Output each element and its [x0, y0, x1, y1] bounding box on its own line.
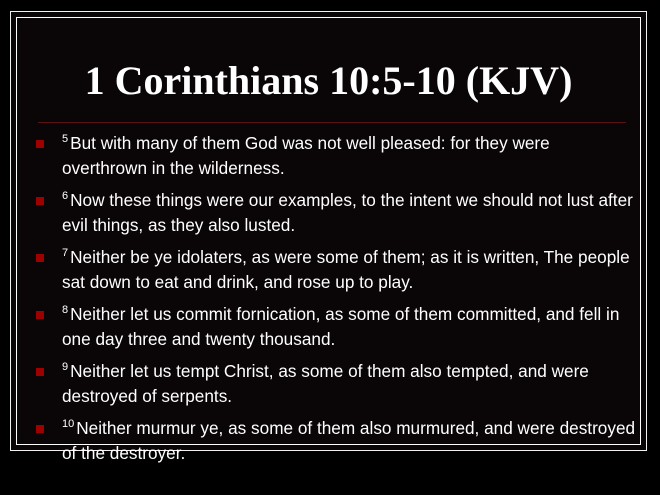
verse-list-item: 9Neither let us tempt Christ, as some of… — [17, 359, 640, 409]
square-bullet-icon — [36, 140, 44, 148]
verse-number: 9 — [62, 361, 70, 373]
verse-list-item: 6Now these things were our examples, to … — [17, 188, 640, 238]
slide-title: 1 Corinthians 10:5-10 (KJV) — [17, 58, 640, 104]
square-bullet-icon — [36, 254, 44, 262]
slide-content: 1 Corinthians 10:5-10 (KJV) 5But with ma… — [17, 18, 640, 444]
square-bullet-icon — [36, 197, 44, 205]
presentation-slide: 1 Corinthians 10:5-10 (KJV) 5But with ma… — [0, 0, 660, 495]
verse-text: Neither be ye idolaters, as were some of… — [62, 247, 630, 292]
verse-text: Neither murmur ye, as some of them also … — [62, 418, 635, 463]
square-bullet-icon — [36, 368, 44, 376]
verse-list: 5But with many of them God was not well … — [17, 131, 640, 473]
verse-number: 7 — [62, 247, 70, 259]
title-divider — [38, 122, 626, 123]
square-bullet-icon — [36, 425, 44, 433]
square-bullet-icon — [36, 311, 44, 319]
verse-number: 6 — [62, 190, 70, 202]
verse-list-item: 8Neither let us commit fornication, as s… — [17, 302, 640, 352]
verse-text: Neither let us commit fornication, as so… — [62, 304, 619, 349]
verse-list-item: 10Neither murmur ye, as some of them als… — [17, 416, 640, 466]
verse-number: 5 — [62, 133, 70, 145]
verse-text: But with many of them God was not well p… — [62, 133, 550, 178]
verse-text: Now these things were our examples, to t… — [62, 190, 633, 235]
verse-list-item: 7Neither be ye idolaters, as were some o… — [17, 245, 640, 295]
verse-text: Neither let us tempt Christ, as some of … — [62, 361, 589, 406]
verse-number: 8 — [62, 304, 70, 316]
verse-number: 10 — [62, 418, 76, 430]
verse-list-item: 5But with many of them God was not well … — [17, 131, 640, 181]
